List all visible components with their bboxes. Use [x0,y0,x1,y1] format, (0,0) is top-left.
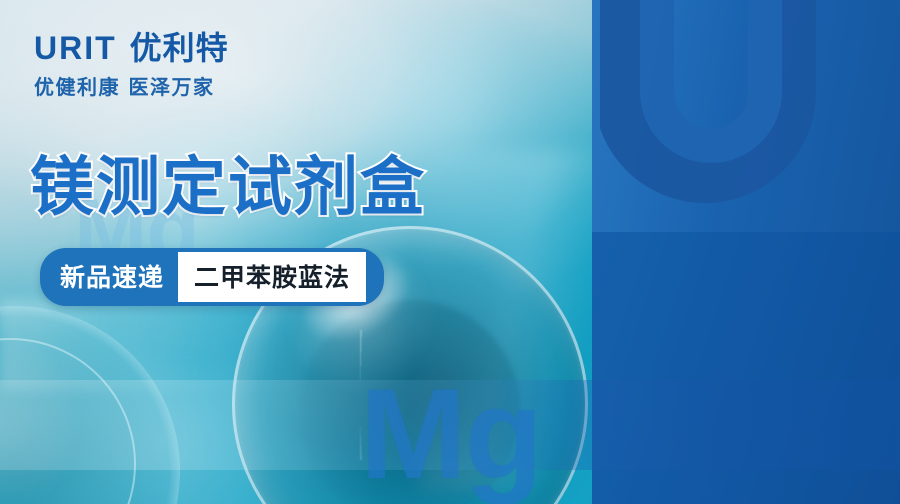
brand-tagline: 优健利康 医泽万家 [34,77,464,97]
magnesium-symbol-watermark-large: Mg [360,371,541,499]
brand-logo-names: URIT 优利特 [34,32,464,64]
page-title: 镁测定试剂盒 [30,156,426,221]
status-badge: 新品速递 二甲苯胺蓝法 [40,248,384,306]
brand-name-latin: URIT [34,32,117,64]
badge-new-product-label: 新品速递 [44,252,178,302]
product-banner: Mg Mg URIT 优利特 优健利康 医泽万家 镁测定试剂盒 新品速递 二甲苯… [0,0,900,504]
brand-logo: URIT 优利特 优健利康 医泽万家 [34,32,464,97]
brand-name-chinese: 优利特 [130,32,229,64]
right-panel-upper-block [592,0,900,232]
badge-method-label: 二甲苯胺蓝法 [178,252,366,302]
